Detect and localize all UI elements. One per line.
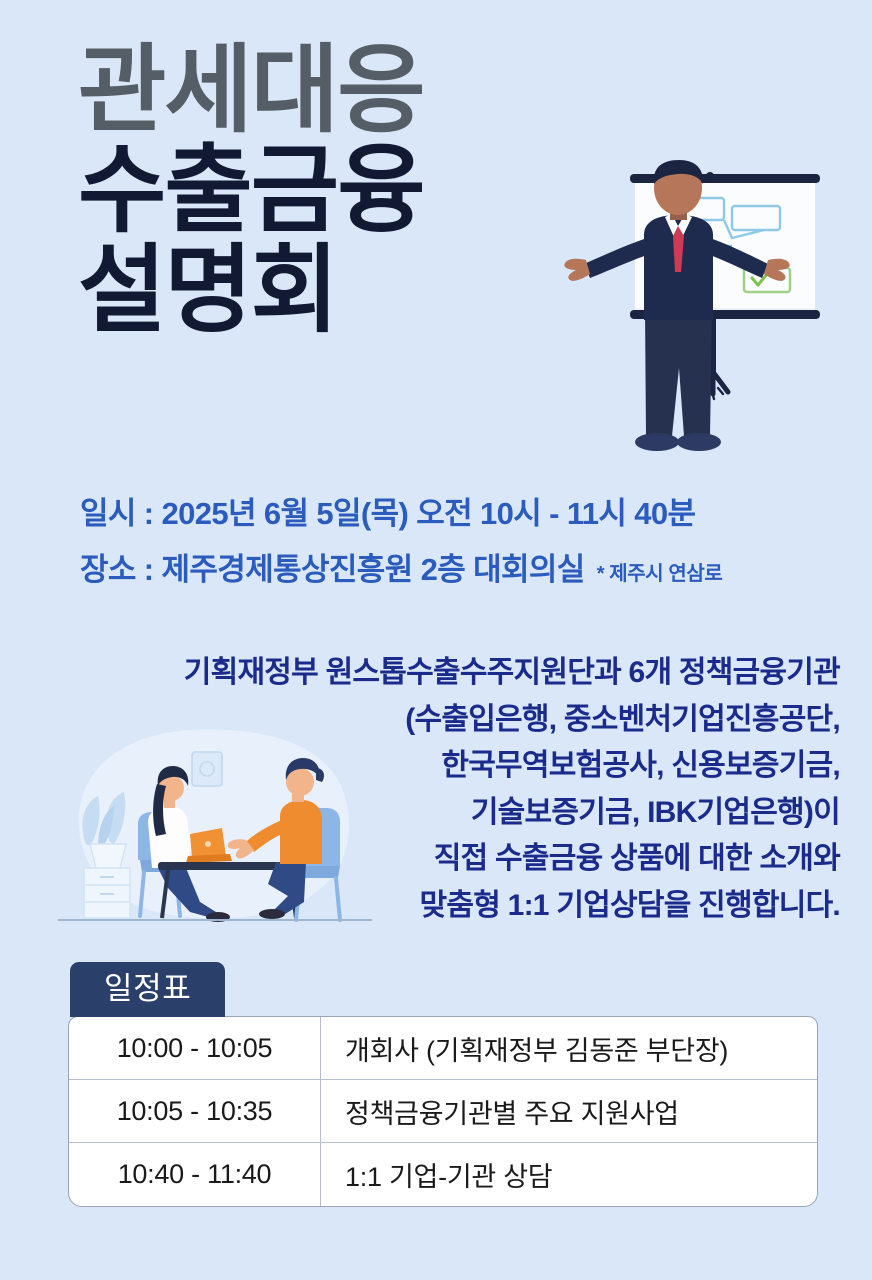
schedule-time: 10:05 - 10:35 [69,1080,321,1143]
schedule-desc: 정책금융기관별 주요 지원사업 [321,1080,817,1143]
event-info: 일시 : 2025년 6월 5일(목) 오전 10시 - 11시 40분 장소 … [80,494,860,589]
table-row: 10:00 - 10:05 개회사 (기획재정부 김동준 부단장) [69,1017,817,1080]
description-line: 기술보증기금, IBK기업은행)이 [50,790,840,837]
poster-root: 관세대응 수출금융 설명회 [0,0,872,1280]
description-line: 한국무역보험공사, 신용보증기금, [50,743,840,790]
schedule-desc: 1:1 기업-기관 상담 [321,1143,817,1206]
schedule-tab-label: 일정표 [70,962,225,1017]
description-line: (수출입은행, 중소벤처기업진흥공단, [50,697,840,744]
schedule-section: 일정표 10:00 - 10:05 개회사 (기획재정부 김동준 부단장) 10… [68,962,820,1207]
event-venue-note: * 제주시 연삼로 [597,563,723,585]
schedule-time: 10:40 - 11:40 [69,1143,321,1206]
title-line-tariff-response: 관세대응 [78,42,578,140]
title-line-briefing-session: 설명회 [78,242,578,340]
schedule-table: 10:00 - 10:05 개회사 (기획재정부 김동준 부단장) 10:05 … [68,1016,818,1207]
presenter-illustration [552,160,862,470]
description-paragraph: 기획재정부 원스톱수출수주지원단과 6개 정책금융기관 (수출입은행, 중소벤처… [50,650,840,929]
poster-title: 관세대응 수출금융 설명회 [78,42,578,340]
event-venue: 장소 : 제주경제통상진흥원 2층 대회의실 [80,552,585,587]
description-line: 맞춤형 1:1 기업상담을 진행합니다. [50,883,840,930]
description-line: 직접 수출금융 상품에 대한 소개와 [50,836,840,883]
presenter-svg [552,160,862,470]
table-row: 10:05 - 10:35 정책금융기관별 주요 지원사업 [69,1080,817,1143]
title-line-export-finance: 수출금융 [78,142,578,240]
schedule-time: 10:00 - 10:05 [69,1017,321,1080]
table-row: 10:40 - 11:40 1:1 기업-기관 상담 [69,1143,817,1206]
schedule-desc: 개회사 (기획재정부 김동준 부단장) [321,1017,817,1080]
description-line: 기획재정부 원스톱수출수주지원단과 6개 정책금융기관 [50,650,840,697]
event-venue-row: 장소 : 제주경제통상진흥원 2층 대회의실* 제주시 연삼로 [80,550,860,590]
event-datetime: 일시 : 2025년 6월 5일(목) 오전 10시 - 11시 40분 [80,494,860,534]
